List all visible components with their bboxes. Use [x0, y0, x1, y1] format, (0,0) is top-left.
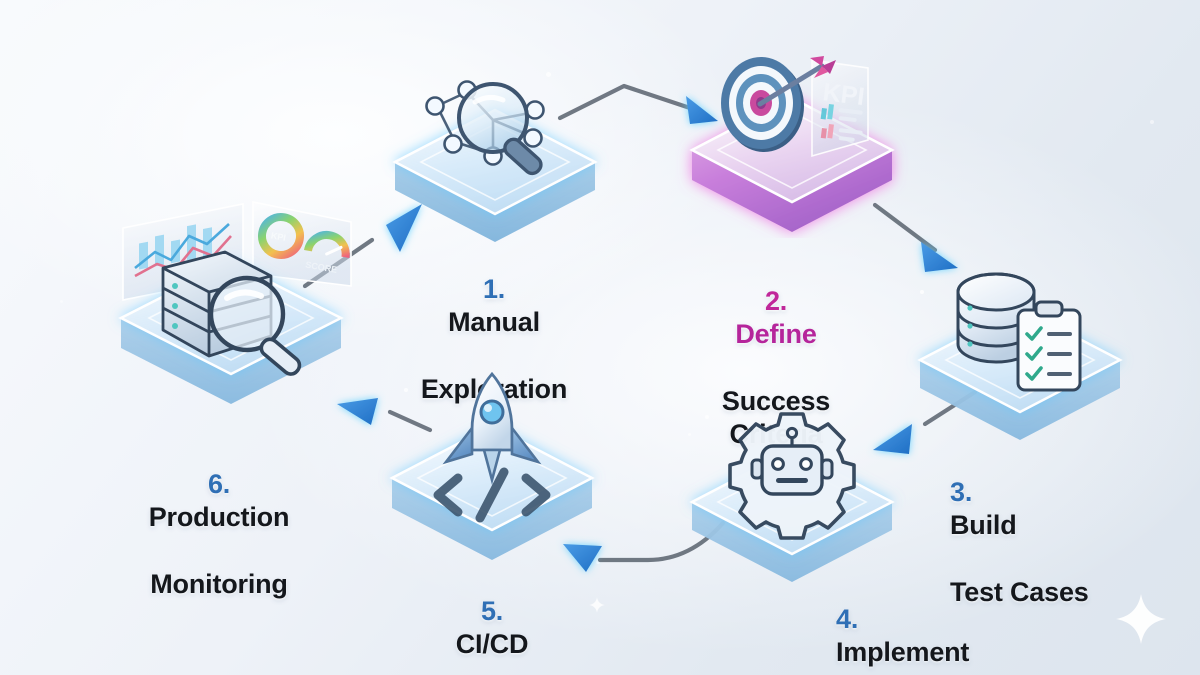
magnifier-network-icon [375, 50, 615, 250]
step-lead-2: Define [735, 319, 816, 349]
step-number-4: 4. [836, 604, 858, 634]
step-node-1[interactable] [375, 50, 615, 250]
database-checklist-icon [900, 248, 1140, 448]
step-number-5: 5. [481, 596, 503, 626]
step-rest-6: Monitoring [150, 569, 287, 599]
step-lead-1: Manual [448, 307, 540, 337]
step-node-4[interactable] [672, 392, 912, 592]
robot-gear-icon [672, 392, 912, 592]
svg-text:KPI: KPI [821, 78, 866, 111]
step-lead-4: Implement [836, 637, 969, 667]
server-magnifier-dashboard-icon: KPI SCORE [95, 190, 365, 410]
workflow-diagram: 1. Manual Exploration [0, 0, 1200, 675]
step-lead-6: Production [149, 502, 290, 532]
step-node-5[interactable] [372, 368, 612, 568]
step-label-6: 6. Production Monitoring [88, 435, 350, 601]
step-node-2[interactable]: KPI [672, 38, 912, 238]
step-number-3: 3. [950, 477, 972, 507]
step-node-6[interactable]: KPI SCORE [95, 190, 365, 410]
step-lead-5: CI/CD [456, 629, 529, 659]
step-number-1: 1. [483, 274, 505, 304]
step-number-6: 6. [208, 469, 230, 499]
step-number-2: 2. [765, 286, 787, 316]
target-kpi-icon: KPI [672, 38, 912, 238]
step-label-5: 5. CI/CD Integration [372, 562, 612, 675]
step-node-3[interactable] [900, 248, 1140, 448]
step-label-4: 4. Implement Graders [836, 570, 1076, 675]
rocket-code-icon [372, 368, 612, 568]
step-lead-3: Build [950, 510, 1017, 540]
